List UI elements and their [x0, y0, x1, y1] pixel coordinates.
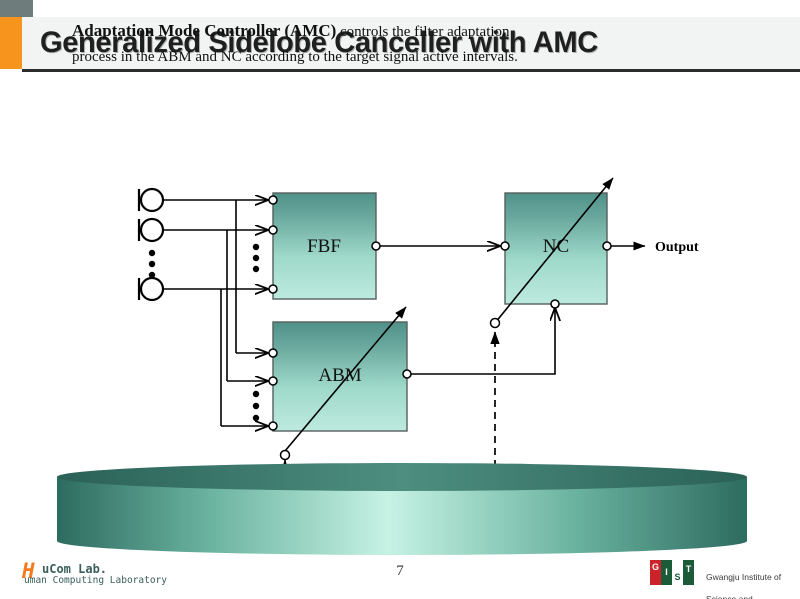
- port-fbf-in3: [269, 285, 277, 293]
- block-fbf: FBF: [273, 193, 376, 299]
- hucom-tagline: uman Computing Laboratory: [24, 575, 167, 586]
- port-fbf-in1: [269, 196, 277, 204]
- title-accent-block: [0, 0, 33, 17]
- block-abm: ABM: [273, 307, 407, 451]
- hucom-lab-logo: H uCom Lab. uman Computing Laboratory: [22, 558, 202, 592]
- block-fbf-label: FBF: [307, 236, 341, 257]
- caption-top-ellipse: [57, 463, 747, 491]
- input-ellipsis-dots: [149, 244, 259, 421]
- amc-to-nc-dashed: [442, 332, 495, 466]
- port-nc-adapt: [491, 319, 500, 328]
- port-nc-ref: [551, 300, 559, 308]
- port-abm-out: [403, 370, 411, 378]
- gsc-block-diagram: FBF ABM NC AMC: [0, 76, 800, 466]
- output-label: Output: [655, 240, 699, 255]
- port-fbf-in2: [269, 226, 277, 234]
- caption-rest1: controls the filter adaptation: [336, 24, 509, 40]
- gist-name: Gwangju Institute of Science and Technol…: [706, 561, 790, 599]
- caption-text: Adaptation Mode Controller (AMC) control…: [72, 18, 692, 70]
- port-nc-in: [501, 242, 509, 250]
- block-nc-label: NC: [543, 236, 569, 257]
- gist-bar-mark: G I S T: [650, 560, 696, 585]
- microphone-icon-3: [139, 278, 163, 300]
- caption-rest2: process in the ABM and NC according to t…: [72, 49, 518, 65]
- port-abm-in3: [269, 422, 277, 430]
- hucom-name: uCom Lab.: [42, 562, 107, 576]
- caption-cylinder: [57, 463, 747, 555]
- gist-logo: G I S T Gwangju Institute of Science and…: [650, 560, 790, 590]
- gist-name-line2: Science and Technology: [706, 594, 753, 599]
- port-abm-in2: [269, 377, 277, 385]
- gist-bar-t: T: [683, 560, 694, 585]
- gist-name-line1: Gwangju Institute of: [706, 572, 781, 582]
- slide-canvas: Generalized Sidelobe Canceller with AMC: [0, 0, 800, 599]
- caption-bold: Adaptation Mode Controller (AMC): [72, 21, 336, 40]
- gist-bar-s: S: [672, 560, 683, 585]
- microphone-icon-2: [139, 219, 163, 241]
- gist-bar-g: G: [650, 560, 661, 585]
- port-abm-adapt: [281, 451, 290, 460]
- title-accent-bar: [0, 17, 22, 69]
- microphone-icon-1: [139, 189, 163, 211]
- abm-to-nc-path: [407, 308, 555, 374]
- port-fbf-out: [372, 242, 380, 250]
- gist-bar-i: I: [661, 560, 672, 585]
- port-abm-in1: [269, 349, 277, 357]
- port-nc-out: [603, 242, 611, 250]
